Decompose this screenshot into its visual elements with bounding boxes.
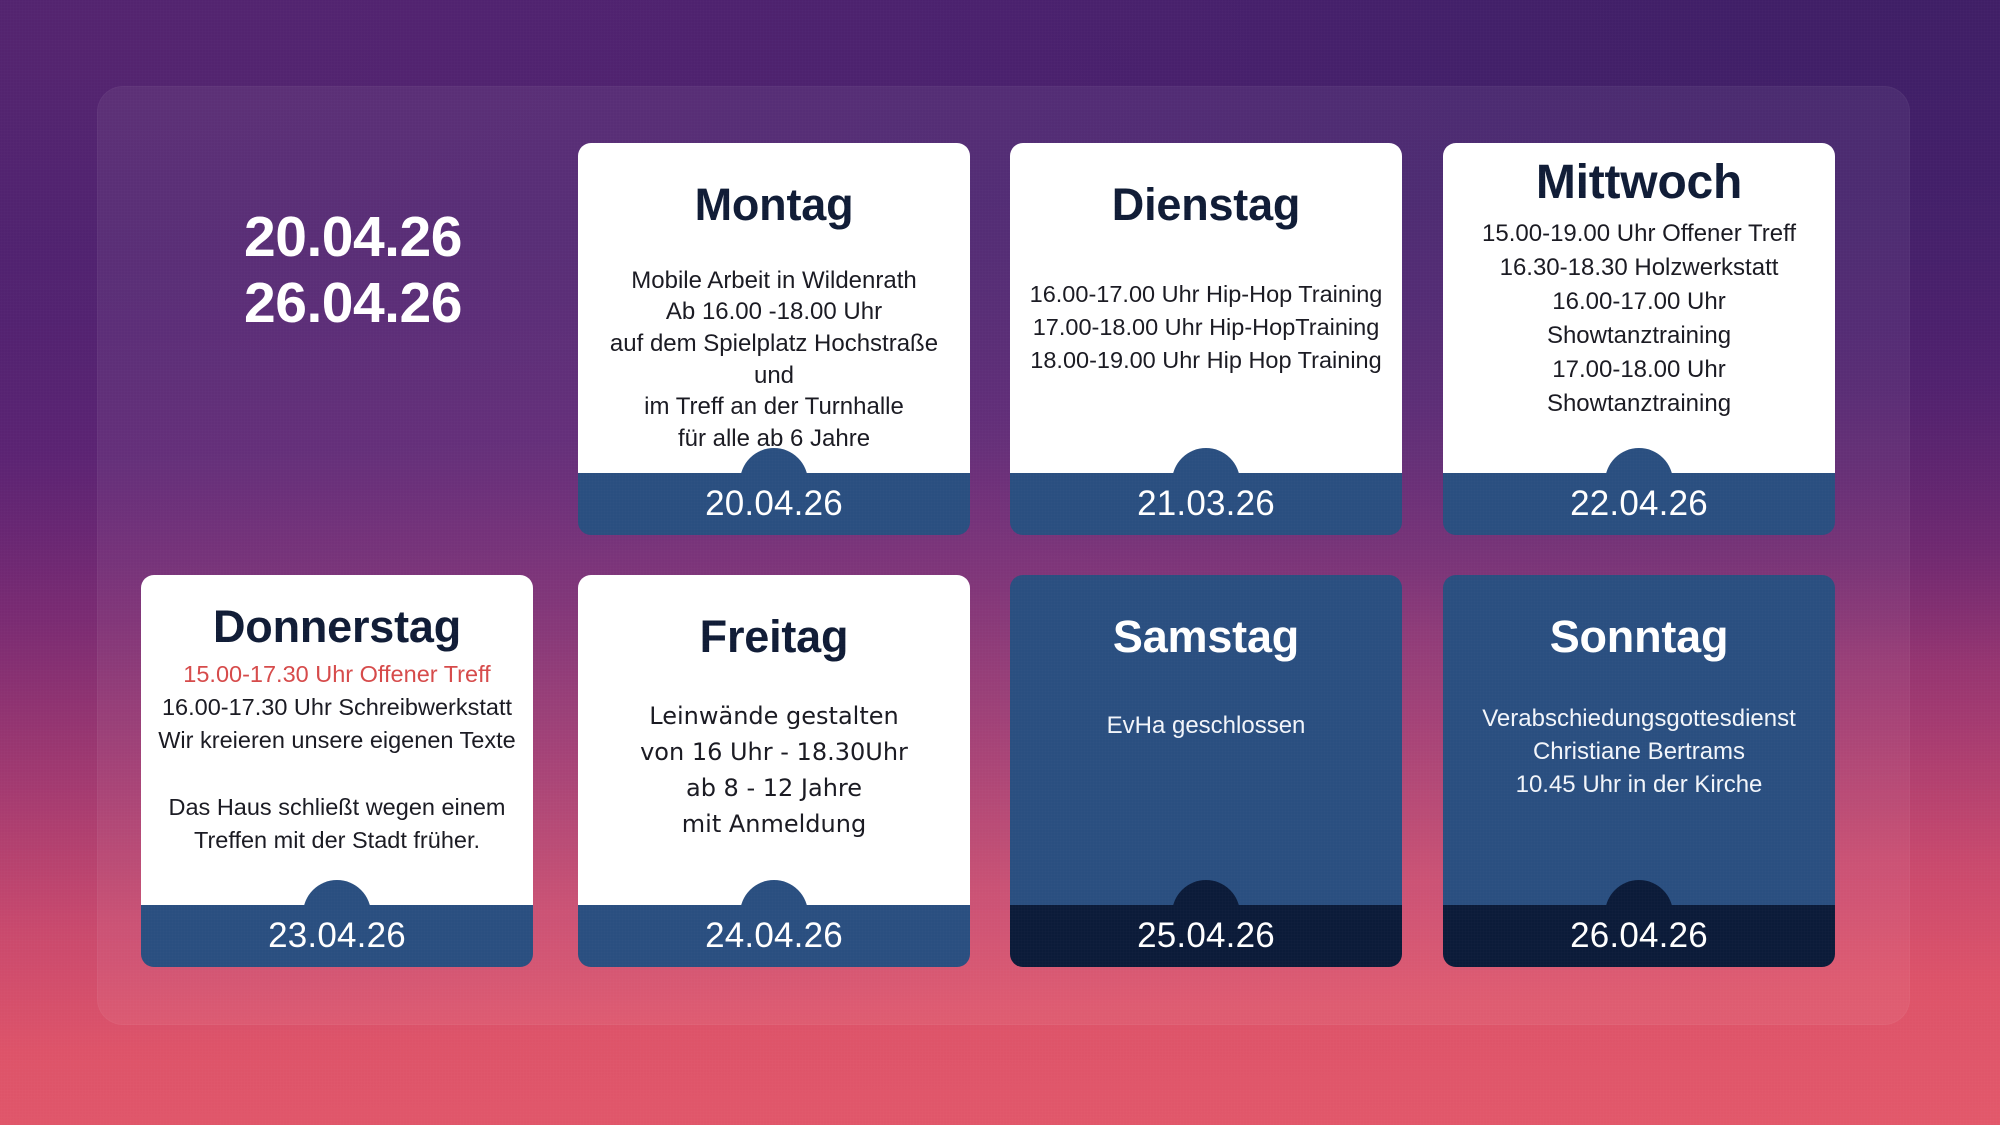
day-card-body: Dienstag 16.00-17.00 Uhr Hip-Hop Trainin… [1010,143,1402,473]
day-body-text: 16.00-17.00 Uhr Hip-Hop Training 17.00-1… [1022,230,1390,378]
day-footer-sonntag: 26.04.26 [1443,905,1835,967]
day-card-freitag[interactable]: Freitag Leinwände gestalten von 16 Uhr -… [578,575,970,967]
day-accent-line: 15.00-17.30 Uhr Offener Treff [183,661,490,687]
day-title: Dienstag [1022,143,1390,230]
day-footer-freitag: 24.04.26 [578,905,970,967]
day-card-mittwoch[interactable]: Mittwoch 15.00-19.00 Uhr Offener Treff 1… [1443,143,1835,535]
day-footer-dienstag: 21.03.26 [1010,473,1402,535]
day-card-dienstag[interactable]: Dienstag 16.00-17.00 Uhr Hip-Hop Trainin… [1010,143,1402,535]
day-card-body: Freitag Leinwände gestalten von 16 Uhr -… [578,575,970,905]
day-date: 25.04.26 [1137,916,1275,955]
day-body-rest: 16.00-17.30 Uhr Schreibwerkstatt Wir kre… [158,694,515,853]
day-footer-mittwoch: 22.04.26 [1443,473,1835,535]
day-title: Sonntag [1455,575,1823,662]
day-card-body: Mittwoch 15.00-19.00 Uhr Offener Treff 1… [1443,143,1835,473]
day-date: 26.04.26 [1570,916,1708,955]
day-card-body: Sonntag Verabschiedungsgottesdienst Chri… [1443,575,1835,905]
day-body-text: 15.00-19.00 Uhr Offener Treff 16.30-18.3… [1455,209,1823,421]
day-card-body: Montag Mobile Arbeit in Wildenrath Ab 16… [578,143,970,473]
day-footer-samstag: 25.04.26 [1010,905,1402,967]
day-card-sonntag[interactable]: Sonntag Verabschiedungsgottesdienst Chri… [1443,575,1835,967]
day-date: 24.04.26 [705,916,843,955]
day-date: 22.04.26 [1570,484,1708,523]
day-footer-donnerstag: 23.04.26 [141,905,533,967]
day-date: 20.04.26 [705,484,843,523]
day-card-body: Donnerstag 15.00-17.30 Uhr Offener Treff… [141,575,533,905]
day-date: 21.03.26 [1137,484,1275,523]
day-card-samstag[interactable]: Samstag EvHa geschlossen 25.04.26 [1010,575,1402,967]
day-footer-montag: 20.04.26 [578,473,970,535]
day-title: Freitag [590,575,958,662]
day-date: 23.04.26 [268,916,406,955]
day-title: Montag [590,143,958,230]
day-body-text: Mobile Arbeit in Wildenrath Ab 16.00 -18… [590,230,958,455]
day-card-montag[interactable]: Montag Mobile Arbeit in Wildenrath Ab 16… [578,143,970,535]
day-body-text: 15.00-17.30 Uhr Offener Treff 16.00-17.3… [153,652,521,858]
week-range-end: 26.04.26 [203,270,503,336]
day-card-donnerstag[interactable]: Donnerstag 15.00-17.30 Uhr Offener Treff… [141,575,533,967]
day-body-text: Leinwände gestalten von 16 Uhr - 18.30Uh… [590,662,958,842]
day-title: Mittwoch [1455,143,1823,209]
week-range: 20.04.26 26.04.26 [203,204,503,336]
day-title: Donnerstag [153,575,521,652]
day-card-body: Samstag EvHa geschlossen [1010,575,1402,905]
week-range-start: 20.04.26 [203,204,503,270]
day-body-text: Verabschiedungsgottesdienst Christiane B… [1455,662,1823,801]
day-title: Samstag [1022,575,1390,662]
week-schedule-poster: 20.04.26 26.04.26 Montag Mobile Arbeit i… [0,0,2000,1125]
day-body-text: EvHa geschlossen [1022,662,1390,742]
